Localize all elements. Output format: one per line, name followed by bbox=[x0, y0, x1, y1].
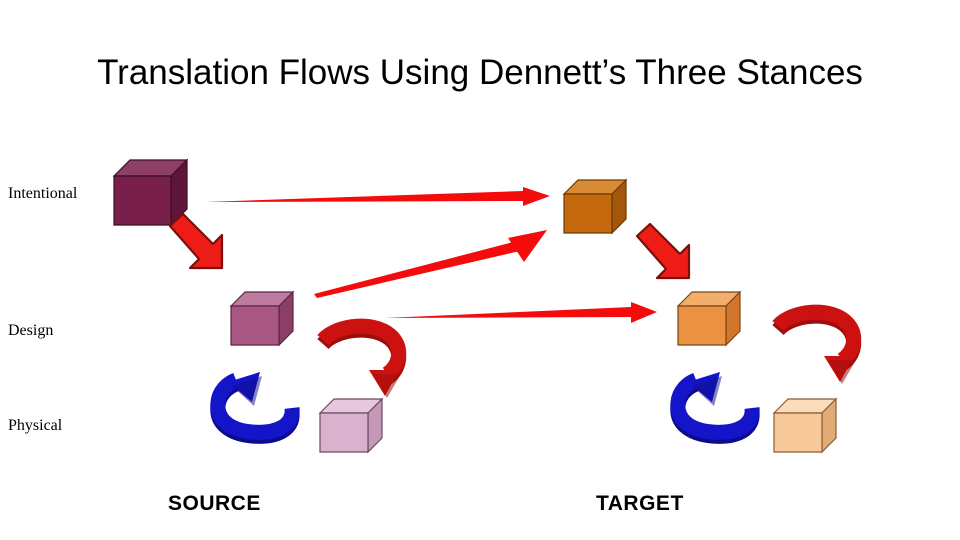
cube-source-physical bbox=[315, 392, 387, 456]
arrow-source-intentional-to-target-intentional bbox=[205, 178, 550, 214]
page-title: Translation Flows Using Dennett’s Three … bbox=[0, 53, 960, 93]
row-label-physical: Physical bbox=[8, 417, 62, 435]
cube-target-intentional bbox=[559, 174, 631, 238]
cube-source-design bbox=[226, 286, 298, 350]
row-label-intentional: Intentional bbox=[8, 185, 77, 203]
cube-target-physical bbox=[769, 392, 841, 456]
column-label-source: SOURCE bbox=[168, 492, 261, 516]
arrow-source-design-to-target-intentional bbox=[312, 228, 547, 298]
arrow-source-physical-curve-up-to-design bbox=[208, 368, 298, 440]
arrow-source-intentional-down-to-design bbox=[165, 212, 235, 282]
slide-canvas: Translation Flows Using Dennett’s Three … bbox=[0, 0, 960, 540]
arrow-target-intentional-down-to-design bbox=[632, 222, 702, 292]
arrow-source-design-curve-down-to-physical bbox=[315, 326, 411, 398]
arrow-target-design-curve-down-to-physical bbox=[770, 312, 866, 384]
row-label-design: Design bbox=[8, 322, 53, 340]
column-label-target: TARGET bbox=[596, 492, 684, 516]
arrow-source-design-to-target-design bbox=[385, 300, 657, 332]
arrow-target-physical-curve-up-to-design bbox=[668, 368, 758, 440]
cube-target-design bbox=[673, 286, 745, 350]
